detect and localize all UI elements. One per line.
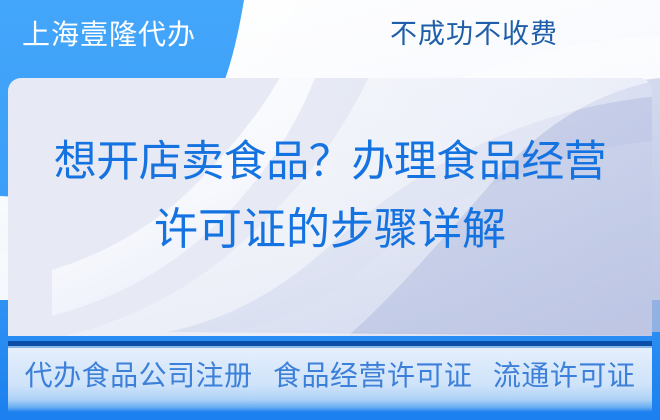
slogan-text: 不成功不收费	[390, 18, 558, 52]
brand-title: 上海壹隆代办	[22, 18, 196, 52]
keyword-bar: 代办食品公司注册 食品经营许可证 流通许可证	[8, 341, 652, 412]
keyword-item-2: 食品经营许可证	[273, 359, 473, 392]
keyword-item-1: 代办食品公司注册	[25, 359, 253, 392]
keyword-list: 代办食品公司注册 食品经营许可证 流通许可证	[8, 355, 652, 397]
keyword-item-3: 流通许可证	[493, 359, 636, 392]
headline-line-2: 许可证的步骤详解	[8, 196, 652, 264]
headline: 想开店卖食品？办理食品经营 许可证的步骤详解	[8, 128, 652, 264]
keyword-bar-top-rule-soft	[8, 346, 652, 348]
promo-banner: 上海壹隆代办 不成功不收费 想开店卖食品？办理食品经营 许可证的步骤详解 代办食…	[0, 0, 660, 420]
headline-line-1: 想开店卖食品？办理食品经营	[8, 128, 652, 196]
